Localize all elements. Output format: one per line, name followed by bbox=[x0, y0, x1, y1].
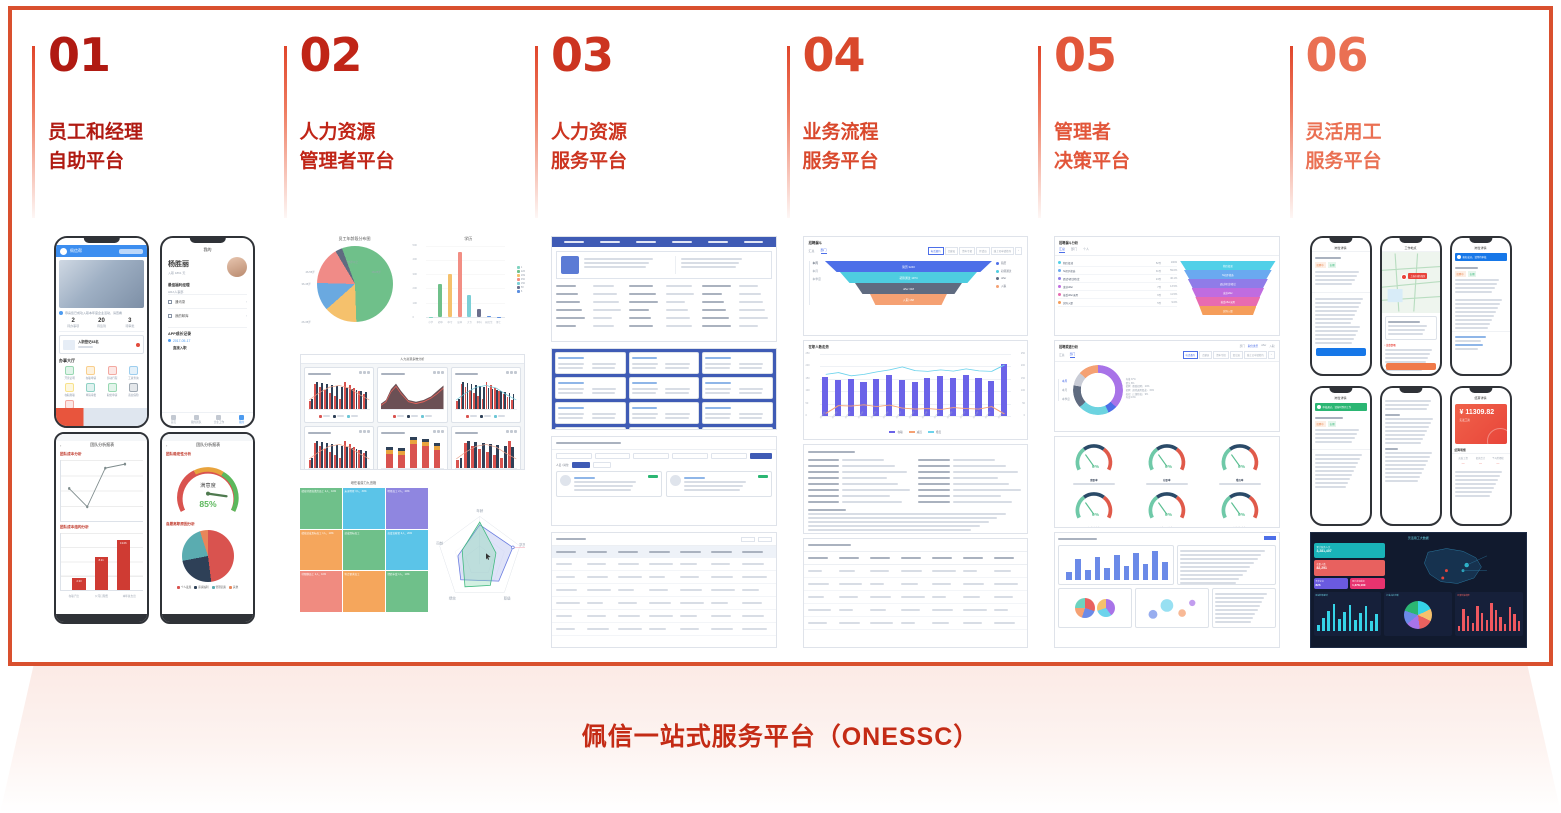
panel-plot bbox=[381, 439, 444, 469]
nav-item[interactable] bbox=[700, 241, 736, 243]
matrix-cell[interactable]: 达成目标员工 bbox=[343, 530, 385, 571]
filter-select[interactable] bbox=[556, 453, 592, 459]
table-cell bbox=[556, 561, 585, 567]
tab-item[interactable]: 首页 bbox=[162, 413, 185, 426]
funnel-filter[interactable]: 合建员 bbox=[945, 247, 959, 255]
table-cell bbox=[742, 626, 771, 632]
toggle-row: 人员 / 岗位 bbox=[552, 462, 776, 471]
funnel-metric-row: 实际入职5件9.6% bbox=[1058, 299, 1177, 307]
link-block bbox=[1452, 331, 1510, 350]
pie-label: 46-55岁 bbox=[306, 270, 315, 274]
nav-item[interactable] bbox=[664, 241, 700, 243]
candidate-card[interactable] bbox=[555, 402, 626, 424]
detail-cell bbox=[556, 323, 589, 329]
candidate-card[interactable] bbox=[555, 427, 626, 430]
grid-icon[interactable]: 职位申请 bbox=[102, 383, 123, 397]
donut-filter[interactable]: 资年专招 bbox=[1213, 351, 1229, 359]
table-cell bbox=[587, 626, 616, 632]
bar bbox=[1343, 612, 1346, 631]
candidate-card[interactable] bbox=[629, 352, 700, 374]
chart-title: 行业占比分析 bbox=[1386, 594, 1450, 597]
column-title-line2: 决策平台 bbox=[1054, 147, 1284, 176]
misc-row bbox=[1058, 545, 1276, 585]
table-row[interactable] bbox=[552, 558, 776, 571]
phone-flex-1[interactable]: 岗位详情招聘中长期 bbox=[1310, 236, 1372, 376]
bar-chart: 2.338.2113.06 bbox=[60, 533, 143, 591]
bar bbox=[1104, 568, 1110, 580]
nav-title: 岗位详情 bbox=[1452, 245, 1510, 251]
panel-legend bbox=[381, 413, 444, 419]
y-tick: 500 bbox=[413, 244, 417, 247]
funnel-filter[interactable]: 线上已申请签约 bbox=[991, 247, 1015, 255]
status-bar bbox=[56, 238, 147, 245]
notice-bar: 恭喜您已成功入职本年度企业活动，请查看 bbox=[59, 311, 144, 315]
candidate-card[interactable] bbox=[555, 352, 626, 374]
status-bar bbox=[1382, 238, 1440, 245]
nav-item[interactable] bbox=[736, 241, 772, 243]
stacked-seg bbox=[386, 450, 393, 454]
phone-flex-4[interactable]: 岗位详情审核通过，请按时到岗工作招聘中长期 bbox=[1310, 386, 1372, 526]
phone-flex-6[interactable]: 结算详情¥ 11309.82实发工资结算明细应发工资—扣款合计—个人所得税— bbox=[1450, 386, 1512, 526]
candidate-card[interactable] bbox=[702, 427, 773, 430]
pie-label: 18-25岁 bbox=[372, 270, 381, 274]
apply-button[interactable] bbox=[1316, 348, 1366, 356]
donut-tab[interactable]: 汇总 bbox=[1059, 353, 1065, 357]
table-row[interactable] bbox=[552, 571, 776, 584]
grid-icon[interactable]: 申请审批 bbox=[80, 383, 101, 397]
donut-filter[interactable]: 复试员 bbox=[1230, 351, 1243, 359]
table-cell bbox=[618, 561, 647, 567]
profile-row[interactable]: 通讯录› bbox=[168, 294, 247, 308]
table-cell bbox=[711, 626, 740, 632]
column-title: 员工和经理自助平台 bbox=[48, 118, 278, 177]
funnel-metrics: 简历投递52件100%hr初步筛选31件59.6%面试/初试/终试24件46.1… bbox=[1058, 259, 1177, 315]
y-tick-right: 0 bbox=[1024, 414, 1025, 417]
donut-title: 招聘渠道分析部门职位类型offer入职 bbox=[1055, 341, 1279, 349]
table-cell bbox=[618, 600, 647, 606]
table-row[interactable] bbox=[804, 604, 1028, 617]
table-cell bbox=[963, 594, 992, 600]
status-bar bbox=[1312, 388, 1370, 395]
tab-item[interactable]: 企业工作 bbox=[208, 413, 231, 426]
card-grid bbox=[555, 352, 773, 426]
candidate-card[interactable] bbox=[555, 377, 626, 399]
table-header-cell bbox=[587, 549, 616, 555]
tab-bar: 首页我的团队企业工作我的 bbox=[162, 412, 253, 426]
bottom-strip bbox=[56, 408, 147, 426]
funnel-filter[interactable]: 资年专招 bbox=[959, 247, 975, 255]
y-tick: 100 bbox=[413, 302, 417, 305]
gauge-item: 0%试用通过率 bbox=[1132, 489, 1202, 528]
matrix-cell[interactable]: 未来明星 3人、30% bbox=[343, 488, 385, 529]
candidate-card[interactable] bbox=[629, 427, 700, 430]
funnel-tab[interactable]: 部门 bbox=[821, 248, 827, 254]
svg-text:满意度: 满意度 bbox=[200, 481, 217, 489]
pie-title: 自愿离职原因分析 bbox=[166, 522, 249, 527]
bar bbox=[1349, 605, 1352, 631]
funnel-tab[interactable]: 汇总 bbox=[809, 249, 815, 254]
grid-icon[interactable]: 开票证明 bbox=[59, 366, 80, 380]
column-title-line2: 服务平台 bbox=[551, 147, 781, 176]
table-cell bbox=[870, 568, 899, 574]
table-cell bbox=[711, 600, 740, 606]
x-tick: 研究生 bbox=[484, 320, 493, 324]
nav-item[interactable] bbox=[556, 241, 592, 243]
svg-text:0%: 0% bbox=[1238, 464, 1246, 470]
table-header-cell bbox=[932, 555, 961, 561]
candidate-card[interactable] bbox=[702, 402, 773, 424]
donut-chart bbox=[1073, 365, 1123, 415]
funnel-legend: 简历初筛通过offer入职 bbox=[996, 261, 1022, 305]
funnel-stage[interactable]: 简历投递 bbox=[1180, 261, 1275, 270]
section-title: 办事大厅 bbox=[59, 358, 144, 364]
candidate-card[interactable] bbox=[629, 377, 700, 399]
panel-header bbox=[381, 371, 444, 377]
bar bbox=[438, 284, 442, 317]
matrix-cell[interactable]: 绩效达成且标员工 1人、10% bbox=[300, 530, 342, 571]
x-tick: 博士 bbox=[494, 320, 503, 324]
table-row[interactable] bbox=[552, 584, 776, 597]
bar bbox=[1490, 603, 1492, 631]
pie-label: 56岁以上 bbox=[348, 260, 359, 264]
job-header: 招聘中长期 bbox=[1452, 263, 1510, 297]
profile-header: 杨胜丽入职 1861 天 bbox=[162, 257, 253, 277]
detail-cell bbox=[666, 307, 699, 313]
profile-row[interactable]: 我的邮库› bbox=[168, 308, 247, 322]
candidate-card[interactable] bbox=[702, 377, 773, 399]
funnel-stage[interactable]: 面试/初试/终试 bbox=[1188, 279, 1268, 288]
hero-photo bbox=[59, 260, 144, 308]
panel-header bbox=[308, 430, 371, 436]
table-row[interactable] bbox=[552, 623, 776, 636]
svg-text:司龄: 司龄 bbox=[436, 541, 444, 546]
y-tick: 0 bbox=[413, 316, 414, 319]
stat-item[interactable]: 2待办事项 bbox=[59, 318, 87, 328]
table-cell bbox=[932, 581, 961, 587]
table-row[interactable] bbox=[552, 597, 776, 610]
column-artwork: 岗位详情招聘中长期工作地点上海市浦东新区• 注意事项岗位详情报名成功，请等待审核… bbox=[1306, 232, 1532, 650]
phone-flex-2[interactable]: 工作地点上海市浦东新区• 注意事项 bbox=[1380, 236, 1442, 376]
x-tick: 大专 bbox=[465, 320, 474, 324]
bar: 2.33 bbox=[72, 578, 85, 590]
bar bbox=[1467, 616, 1469, 631]
bar bbox=[1143, 564, 1149, 580]
funnel-body: 简历投递52件100%hr初步筛选31件59.6%面试/初试/终试24件46.1… bbox=[1055, 256, 1279, 318]
matrix-cell[interactable]: 待观察员工 1人、10% bbox=[300, 571, 342, 612]
table-cell bbox=[680, 600, 709, 606]
infographic-page: 佩信一站式服务平台（ONESSC） 01员工和经理自助平台佩信帮恭喜您已成功入职… bbox=[0, 0, 1561, 813]
x-tick: 小学 bbox=[426, 320, 435, 324]
table-cell bbox=[711, 587, 740, 593]
table-header-cell bbox=[963, 555, 992, 561]
stat-item[interactable]: 3待审批 bbox=[116, 318, 144, 328]
filter-more[interactable]: › bbox=[1268, 351, 1275, 359]
column-title: 人力资源服务平台 bbox=[551, 118, 781, 177]
funnel-stage[interactable]: 初筛通过 1974 bbox=[840, 272, 977, 283]
column-title-line2: 服务平台 bbox=[803, 147, 1033, 176]
kpi-gauges-panel: 0%离职率0%在职率0%增员率0%招聘达成率0%试用通过率0%编制完成率 bbox=[1054, 436, 1280, 528]
panel-plot bbox=[455, 439, 518, 469]
funnel-stage[interactable]: 接受offer录用 bbox=[1195, 297, 1260, 306]
matrix-cell[interactable]: 经验丰富 1人、10% bbox=[386, 571, 428, 612]
legend-item: 薪资福利 bbox=[194, 585, 208, 589]
dashboard-panel bbox=[451, 367, 522, 423]
matrix-cell[interactable]: 明星员工 2人、20% bbox=[386, 488, 428, 529]
status-bar bbox=[1312, 238, 1370, 245]
column-divider bbox=[1290, 46, 1293, 218]
stacked-seg2 bbox=[434, 443, 441, 446]
table-cell bbox=[963, 568, 992, 574]
chart-title: 区域分布统计 bbox=[1316, 594, 1380, 597]
dashboard-title: 灵活用工大数据 bbox=[1314, 536, 1524, 540]
china-map bbox=[1388, 543, 1523, 589]
column-divider bbox=[535, 46, 538, 218]
x-tick: 高中 bbox=[455, 320, 464, 324]
search-button[interactable] bbox=[750, 453, 772, 459]
bar bbox=[1114, 555, 1120, 580]
stat-item[interactable]: 20待签到 bbox=[87, 318, 115, 328]
table-cell bbox=[711, 574, 740, 580]
table-cell bbox=[839, 568, 868, 574]
filter-select[interactable] bbox=[672, 453, 708, 459]
stacked-seg2 bbox=[386, 447, 393, 450]
toggle-label: 人员 / 岗位 bbox=[556, 463, 569, 467]
y-tick-left: 250 bbox=[806, 352, 810, 355]
table-row[interactable] bbox=[804, 617, 1028, 630]
bar-labels: 在职产出公司打理费本年总支出 bbox=[60, 594, 143, 598]
filter-more[interactable]: › bbox=[1015, 247, 1022, 255]
detail-line bbox=[808, 499, 913, 505]
bar bbox=[477, 309, 481, 317]
grid-icon[interactable]: 在职申请 bbox=[80, 366, 101, 380]
donut-tab-active[interactable]: 部门 bbox=[1070, 352, 1076, 358]
phone-profile[interactable]: 我的杨胜丽入职 1861 天最佳福利经理HRA人事部通讯录›我的邮库›APP成长… bbox=[160, 236, 255, 428]
profile-card bbox=[556, 251, 772, 279]
chart-title: 月度结算趋势 bbox=[1457, 594, 1521, 597]
candidate-card[interactable] bbox=[702, 352, 773, 374]
table-cell bbox=[742, 574, 771, 580]
stacked-bar bbox=[386, 454, 393, 468]
grid-icon[interactable]: 在职离职 bbox=[59, 383, 80, 397]
funnel-stage[interactable]: 简历 3240 bbox=[825, 261, 992, 272]
table-cell bbox=[649, 613, 678, 619]
panel-title bbox=[552, 437, 776, 450]
funnel-tab[interactable]: 部门 bbox=[1071, 247, 1077, 253]
toggle-inactive[interactable] bbox=[593, 462, 611, 468]
bar bbox=[1085, 570, 1091, 580]
column-title-line2: 自助平台 bbox=[48, 147, 278, 176]
funnel-period[interactable]: 本周 bbox=[813, 261, 821, 265]
filter-select[interactable] bbox=[633, 453, 669, 459]
funnel-shape: 简历 3240初筛通过 1974offer 318入职 168 bbox=[825, 261, 992, 305]
stats-row: 2待办事项20待签到3待审批 bbox=[59, 318, 144, 332]
table-cell bbox=[901, 607, 930, 613]
filter-group: 电话邀约合建员资年专招复试员线上已申请签约› bbox=[1183, 351, 1275, 359]
table-cell bbox=[649, 574, 678, 580]
bar bbox=[1124, 566, 1130, 580]
table-cell bbox=[711, 561, 740, 567]
column-04: 04业务流程服务平台招聘漏斗汇总部门电话邀约合建员资年专招复试员线上已申请签约›… bbox=[781, 32, 1033, 652]
legend-item: 增员 bbox=[928, 430, 941, 434]
scatter-card bbox=[1135, 588, 1209, 628]
matrix-cell[interactable]: 高度贡献者 2人、20% bbox=[386, 530, 428, 571]
status-bar bbox=[162, 238, 253, 245]
svg-text:0%: 0% bbox=[1092, 464, 1100, 470]
table-row[interactable] bbox=[804, 591, 1028, 604]
funnel-period[interactable]: 本季度 bbox=[813, 277, 821, 281]
table-row[interactable] bbox=[804, 578, 1028, 591]
cta-button[interactable] bbox=[1386, 363, 1436, 370]
bar bbox=[1162, 562, 1168, 580]
legend-item: offer bbox=[996, 277, 1022, 280]
donut-filter[interactable]: 线上已申请签约 bbox=[1244, 351, 1267, 359]
table-header-cell bbox=[649, 549, 678, 555]
line-series bbox=[61, 460, 143, 521]
map-roads bbox=[1382, 252, 1440, 313]
nav-item[interactable] bbox=[628, 241, 664, 243]
rose-chart bbox=[1404, 601, 1432, 629]
panel-plot bbox=[455, 380, 518, 410]
detail-cell bbox=[556, 291, 589, 297]
line-chart bbox=[60, 460, 143, 522]
funnel-stage[interactable]: 入职 168 bbox=[870, 294, 947, 305]
phone-team-cost[interactable]: ‹团队分析报表团队成本分析团队成本结构分析2.338.2113.06在职产出公司… bbox=[54, 432, 149, 624]
phone-ess-home[interactable]: 佩信帮恭喜您已成功入职本年度企业活动，请查看2待办事项20待签到3待审批入职登记… bbox=[54, 236, 149, 428]
column-title: 灵活用工服务平台 bbox=[1306, 118, 1536, 177]
succession-matrix: 继任者潜力九宫格绩效待提高潜力员工 1人、10%未来明星 3人、30%明星员工 … bbox=[300, 480, 428, 626]
stacked-seg bbox=[398, 451, 405, 455]
panel-legend bbox=[308, 413, 371, 419]
pie-legend: 个人发展薪资福利管理因素其他 bbox=[162, 585, 253, 589]
bi-rose-chart: 行业占比分析 bbox=[1384, 592, 1452, 636]
filter-select[interactable] bbox=[595, 453, 631, 459]
funnel-filter[interactable]: 复试员 bbox=[976, 247, 990, 255]
table-header-cell bbox=[742, 549, 771, 555]
table-cell bbox=[932, 607, 961, 613]
nav-title: ‹团队分析报表 bbox=[162, 441, 253, 449]
bar bbox=[487, 316, 491, 317]
panel-plot bbox=[308, 380, 371, 410]
result-card[interactable] bbox=[556, 471, 662, 497]
table-cell bbox=[901, 581, 930, 587]
donut-filter[interactable]: 合建员 bbox=[1199, 351, 1212, 359]
grid-icon[interactable]: 异动行程 bbox=[102, 366, 123, 380]
table-cell bbox=[839, 581, 868, 587]
tab-item[interactable]: 我的团队 bbox=[185, 413, 208, 426]
gauge-item: 0%离职率 bbox=[1059, 441, 1129, 486]
funnel-stage[interactable]: 实际入职 bbox=[1199, 306, 1256, 315]
funnel-stage[interactable]: hr初步筛选 bbox=[1184, 270, 1272, 279]
svg-text:年龄: 年龄 bbox=[476, 508, 484, 513]
donut-filter[interactable]: 电话邀约 bbox=[1183, 351, 1199, 359]
kpi-card: 合作企业826 bbox=[1314, 578, 1349, 589]
map-tooltip: 上海市浦东新区 bbox=[1408, 273, 1427, 279]
filter-select[interactable] bbox=[711, 453, 747, 459]
column-03: 03人力资源服务平台人员 / 岗位 bbox=[529, 32, 781, 652]
matrix-cell[interactable]: 绩效待提高潜力员工 1人、10% bbox=[300, 488, 342, 529]
funnel-filters: 电话邀约合建员资年专招复试员线上已申请签约› bbox=[928, 247, 1022, 255]
entry-banner[interactable]: 入职登记48名 bbox=[59, 335, 144, 354]
stacked-bar bbox=[422, 446, 429, 468]
phone-team-stability[interactable]: ‹团队分析报表团队稳定性分析满意度85%自愿离职原因分析个人发展薪资福利管理因素… bbox=[160, 432, 255, 624]
legend-item: 入职 bbox=[996, 284, 1022, 288]
bar bbox=[1095, 557, 1101, 580]
x-tick: 本科 bbox=[475, 320, 484, 324]
x-tick: 初中 bbox=[436, 320, 445, 324]
funnel-filter[interactable]: 电话邀约 bbox=[928, 247, 944, 255]
table-cell bbox=[963, 607, 992, 613]
funnel-stage[interactable]: 发放offer bbox=[1192, 288, 1264, 297]
nav-item[interactable] bbox=[592, 241, 628, 243]
donut-period[interactable]: 本周 bbox=[1062, 379, 1070, 383]
salary-column: 个人所得税— bbox=[1489, 456, 1506, 465]
result-card[interactable] bbox=[666, 471, 772, 497]
stacked-bar bbox=[398, 455, 405, 468]
donut-filters: 汇总部门电话邀约合建员资年专招复试员线上已申请签约› bbox=[1055, 349, 1279, 362]
phone-flex-5[interactable] bbox=[1380, 386, 1442, 526]
certificate: 最佳福利经理HRA人事部 bbox=[168, 283, 247, 294]
detail-cell bbox=[629, 315, 662, 321]
column-02: 02人力资源管理者平台员工年龄段分布图26-35岁36-45岁46-55岁18-… bbox=[278, 32, 530, 652]
bar-title: 学历 bbox=[412, 236, 526, 242]
toggle-active[interactable] bbox=[572, 462, 590, 468]
funnel-tab[interactable]: 汇总 bbox=[1059, 247, 1065, 253]
bar bbox=[1327, 611, 1330, 631]
bar bbox=[467, 295, 471, 317]
bar bbox=[1075, 559, 1081, 580]
grid-icon[interactable]: 工资查询 bbox=[123, 366, 144, 380]
donut-period[interactable]: 本月 bbox=[1062, 388, 1070, 392]
matrix-cell[interactable]: 符合要求员工 bbox=[343, 571, 385, 612]
column-title-line2: 服务平台 bbox=[1306, 147, 1536, 176]
column-number: 02 bbox=[300, 32, 530, 78]
funnel-tab[interactable]: 个人 bbox=[1083, 247, 1089, 253]
detail-cell bbox=[739, 307, 772, 313]
result-cards bbox=[552, 471, 776, 497]
table-row[interactable] bbox=[804, 565, 1028, 578]
funnel-period[interactable]: 本月 bbox=[813, 269, 821, 273]
y-tick-left: 50 bbox=[806, 402, 809, 405]
detail-cell bbox=[629, 283, 662, 289]
matrix-grid: 绩效待提高潜力员工 1人、10%未来明星 3人、30%明星员工 2人、20%绩效… bbox=[300, 488, 428, 612]
table-header bbox=[552, 546, 776, 558]
funnel-title: 招聘漏斗 bbox=[804, 237, 1028, 245]
detail-cell bbox=[593, 283, 626, 289]
funnel-stage[interactable]: offer 318 bbox=[855, 283, 962, 294]
panel-header bbox=[381, 430, 444, 436]
table-header-cell bbox=[994, 555, 1023, 561]
grid-icon[interactable]: 商业保险 bbox=[123, 383, 144, 397]
column-title-line1: 管理者 bbox=[1054, 118, 1284, 147]
column-divider bbox=[32, 46, 35, 218]
y-tick-right: 200 bbox=[1021, 364, 1025, 367]
legend-item: 在职 bbox=[889, 430, 902, 434]
table-cell bbox=[618, 613, 647, 619]
table-cell bbox=[808, 594, 837, 600]
detail-cell bbox=[593, 307, 626, 313]
bar bbox=[1133, 553, 1139, 580]
candidate-card[interactable] bbox=[629, 402, 700, 424]
tab-item[interactable]: 我的 bbox=[230, 413, 253, 426]
y-tick: 300 bbox=[413, 273, 417, 276]
misc-header bbox=[1058, 536, 1276, 542]
phone-flex-3[interactable]: 岗位详情报名成功，请等待审核招聘中长期 bbox=[1450, 236, 1512, 376]
top-navbar[interactable] bbox=[552, 237, 776, 247]
pie-chart bbox=[317, 246, 393, 322]
table-row[interactable] bbox=[552, 610, 776, 623]
donut-period[interactable]: 本季度 bbox=[1062, 397, 1070, 401]
table-cell bbox=[618, 587, 647, 593]
